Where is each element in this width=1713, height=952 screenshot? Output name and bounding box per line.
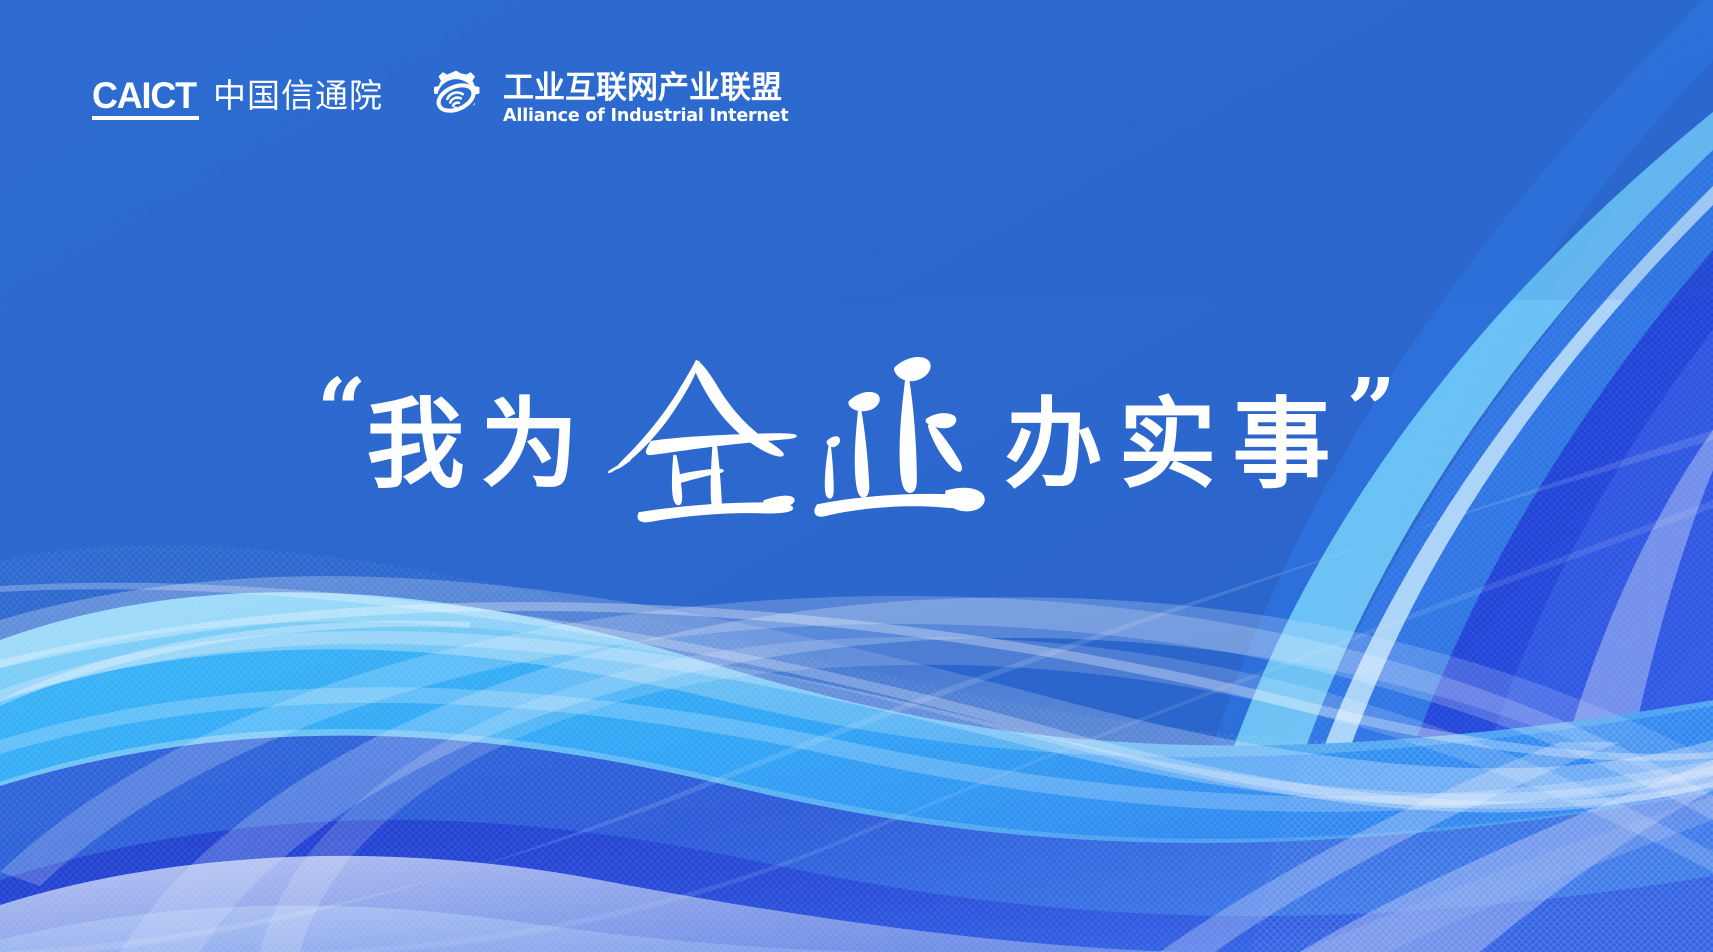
header-logo-group: CAICT 中国信通院 xyxy=(92,68,789,130)
caict-chinese-name: 中国信通院 xyxy=(213,79,383,120)
caict-acronym: CAICT xyxy=(92,78,196,113)
headline-emphasis-calligraphy xyxy=(605,337,1001,537)
logo-caict: CAICT 中国信通院 xyxy=(92,78,383,120)
aii-text-block: 工业互联网产业联盟 Alliance of Industrial Interne… xyxy=(503,72,788,125)
headline-row: “ 我为 xyxy=(317,337,1396,537)
logo-alliance-of-industrial-internet: 工业互联网产业联盟 Alliance of Industrial Interne… xyxy=(425,68,788,130)
close-quote-mark: ” xyxy=(1347,368,1396,454)
headline-suffix: 办实事 xyxy=(1005,396,1347,494)
gear-wifi-icon xyxy=(425,68,487,130)
aii-chinese-name: 工业互联网产业联盟 xyxy=(503,72,788,105)
caict-wordmark: CAICT xyxy=(92,78,199,120)
open-quote-mark: “ xyxy=(317,368,366,454)
caict-underline-icon xyxy=(92,116,199,120)
aii-english-name: Alliance of Industrial Internet xyxy=(503,108,788,126)
headline-prefix: 我为 xyxy=(366,396,594,494)
poster-canvas: CAICT 中国信通院 xyxy=(0,0,1713,952)
headline-block: “ 我为 xyxy=(0,322,1713,552)
